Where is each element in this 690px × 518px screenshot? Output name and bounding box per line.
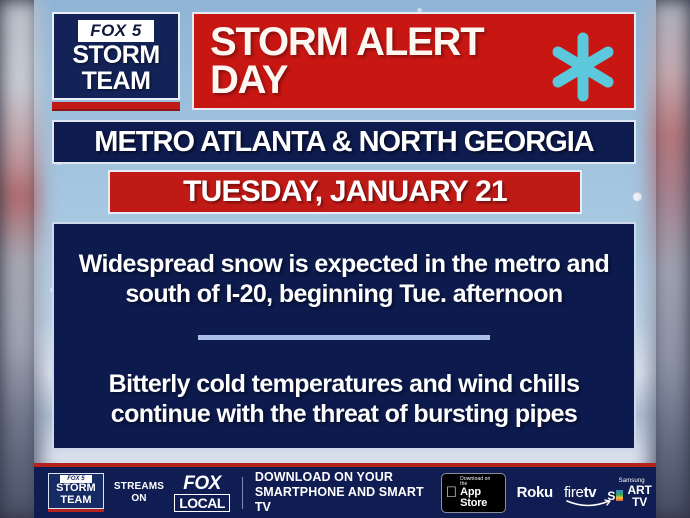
forecast-message-2: Bitterly cold temperatures and wind chil…	[74, 370, 614, 429]
streams-on-label: STREAMS ON	[114, 481, 164, 504]
footer-logo-accent	[48, 509, 104, 512]
footer-divider	[242, 477, 243, 509]
app-store-large-text: App Store	[460, 487, 499, 509]
download-line-1: DOWNLOAD ON YOUR	[255, 470, 425, 485]
date-text: TUESDAY, JANUARY 21	[183, 175, 507, 209]
fox-local-logo: FOX LOCAL	[174, 474, 230, 512]
fire-tv-swoosh-icon	[566, 499, 612, 508]
date-banner: TUESDAY, JANUARY 21	[108, 170, 582, 214]
fox5-wordmark: FOX 5	[78, 20, 154, 42]
forecast-body-panel: Widespread snow is expected in the metro…	[52, 222, 636, 450]
blurred-left-edge	[0, 0, 40, 518]
blurred-right-edge	[650, 0, 690, 518]
footer-team-text: TEAM	[60, 495, 91, 507]
fox-local-local-text: LOCAL	[174, 494, 230, 512]
fox5-storm-team-logo: FOX 5 STORM TEAM	[52, 12, 180, 100]
roku-badge[interactable]: Roku	[517, 484, 553, 501]
footer-bar: FOX 5 STORM TEAM STREAMS ON FOX LOCAL DO…	[34, 467, 656, 518]
footer-storm-team-logo: FOX 5 STORM TEAM	[48, 473, 104, 512]
fox-local-fox-text: FOX	[174, 474, 230, 493]
platform-badges:  Download on the App Store Roku firetv …	[441, 473, 656, 513]
forecast-message-1: Widespread snow is expected in the metro…	[74, 250, 614, 309]
logo-red-accent-bar	[52, 102, 180, 111]
apple-logo-icon: 	[446, 485, 457, 500]
app-store-badge[interactable]:  Download on the App Store	[441, 473, 506, 513]
message-divider	[198, 335, 490, 340]
fire-tv-badge[interactable]: firetv	[564, 484, 596, 501]
storm-alert-day-banner: STORM ALERT DAY	[192, 12, 636, 110]
download-instructions: DOWNLOAD ON YOUR SMARTPHONE AND SMART TV	[255, 470, 425, 516]
samsung-smart-tv-badge[interactable]: Samsung S ART TV	[607, 478, 656, 508]
footer-storm-text: STORM	[56, 483, 96, 495]
team-text: TEAM	[82, 69, 151, 95]
samsung-logo-icon	[616, 490, 623, 501]
top-row: FOX 5 STORM TEAM STORM ALERT DAY	[52, 12, 636, 112]
streams-on-line1: STREAMS	[114, 481, 164, 493]
streams-on-line2: ON	[114, 493, 164, 505]
region-banner: METRO ATLANTA & NORTH GEORGIA	[52, 120, 636, 164]
snowflake-asterisk-icon	[544, 28, 622, 111]
region-text: METRO ATLANTA & NORTH GEORGIA	[94, 126, 593, 159]
alert-headline: STORM ALERT DAY	[194, 23, 534, 100]
smart-tv-post-text: ART TV	[623, 484, 656, 508]
app-store-small-text: Download on the	[460, 477, 499, 487]
storm-text: STORM	[72, 43, 159, 69]
download-line-2: SMARTPHONE AND SMART TV	[255, 485, 425, 516]
storm-alert-graphic: FOX 5 STORM TEAM STORM ALERT DAY METRO A…	[0, 0, 690, 518]
